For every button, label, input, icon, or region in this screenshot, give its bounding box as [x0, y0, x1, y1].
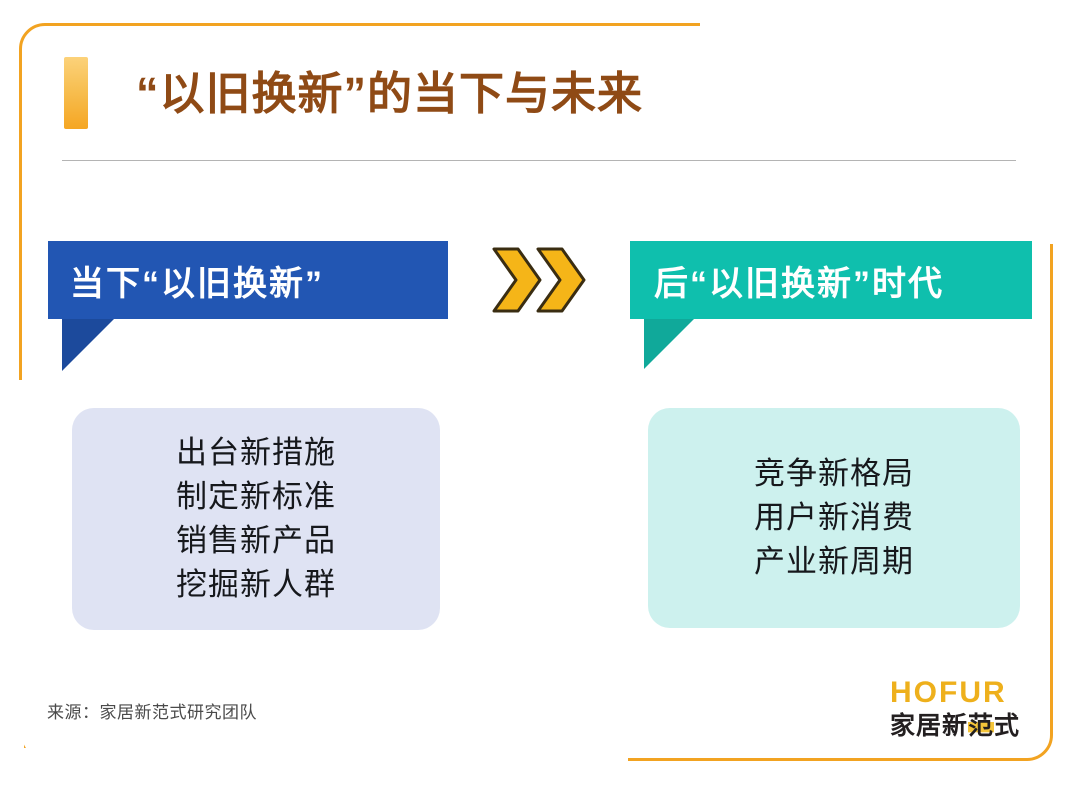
infographic-canvas: “以旧换新”的当下与未来 当下“以旧换新” 后“以旧换新”时代 出台新措施 制定… — [0, 0, 1080, 787]
card-future-line: 竞争新格局 — [754, 452, 914, 496]
page-title: “以旧换新”的当下与未来 — [136, 58, 643, 130]
decorative-frame-border — [19, 23, 1053, 761]
title-accent-bar — [64, 57, 88, 129]
card-current-line: 挖掘新人群 — [176, 563, 336, 607]
hofur-wordmark: HOFUR — [890, 676, 1040, 710]
banner-future-era: 后“以旧换新”时代 — [630, 241, 1032, 319]
frame-mask-bottom — [8, 748, 628, 787]
hofur-subtitle-highlight: 范 — [968, 712, 994, 740]
banner-current-era: 当下“以旧换新” — [48, 241, 448, 319]
banner-current-era-tail — [62, 319, 114, 371]
hofur-subtitle-prefix: 家居新 — [890, 712, 968, 740]
banner-future-era-label: 后“以旧换新”时代 — [654, 256, 944, 305]
card-current-era: 出台新措施 制定新标准 销售新产品 挖掘新人群 — [72, 408, 440, 630]
card-future-era: 竞争新格局 用户新消费 产业新周期 — [648, 408, 1020, 628]
card-future-line: 用户新消费 — [754, 496, 914, 540]
card-current-line: 出台新措施 — [176, 431, 336, 475]
hofur-subtitle: 家居新范式 — [890, 710, 1040, 742]
card-current-line: 销售新产品 — [176, 519, 336, 563]
card-future-line: 产业新周期 — [754, 540, 914, 584]
hofur-logo: HOFUR 家居新范式 — [890, 676, 1040, 756]
double-chevron-right-icon — [492, 246, 588, 314]
hofur-subtitle-suffix: 式 — [994, 712, 1020, 740]
frame-mask-right — [1040, 14, 1080, 244]
banner-current-era-label: 当下“以旧换新” — [70, 256, 324, 305]
frame-mask-top-right — [700, 14, 1080, 30]
source-note: 来源：家居新范式研究团队 — [47, 698, 257, 723]
frame-mask-left — [8, 380, 24, 780]
banner-future-era-tail — [644, 319, 694, 369]
card-current-line: 制定新标准 — [176, 475, 336, 519]
title-divider-rule — [62, 160, 1016, 161]
